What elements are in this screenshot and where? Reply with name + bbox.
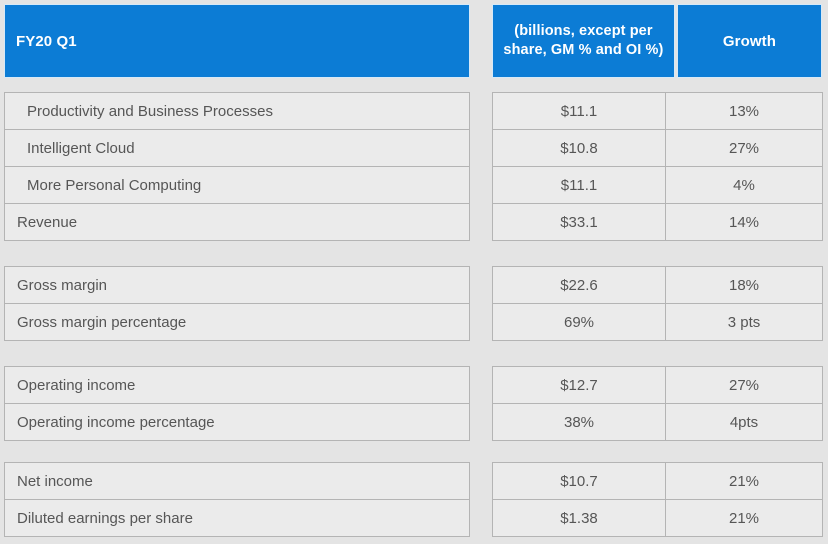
- table-row: 38% 4pts: [493, 404, 823, 441]
- group-net-income-values: $10.7 21% $1.38 21%: [492, 462, 822, 537]
- group-revenue-labels: Productivity and Business Processes Inte…: [4, 92, 470, 241]
- table-row: Productivity and Business Processes: [5, 93, 470, 130]
- row-label: Diluted earnings per share: [5, 500, 470, 537]
- row-label: Productivity and Business Processes: [5, 93, 470, 130]
- cell-amount: $1.38: [493, 500, 666, 537]
- cell-growth: 21%: [666, 500, 823, 537]
- row-label: More Personal Computing: [5, 167, 470, 204]
- table-row: Operating income: [5, 367, 470, 404]
- table-row: $10.8 27%: [493, 130, 823, 167]
- table-row: More Personal Computing: [5, 167, 470, 204]
- table-row: Gross margin percentage: [5, 304, 470, 341]
- cell-amount: $11.1: [493, 167, 666, 204]
- cell-growth: 4pts: [666, 404, 823, 441]
- row-label: Gross margin percentage: [5, 304, 470, 341]
- header-units-label: (billions, except per share, GM % and OI…: [492, 4, 675, 78]
- cell-amount: $12.7: [493, 367, 666, 404]
- cell-amount: $10.8: [493, 130, 666, 167]
- cell-growth: 4%: [666, 167, 823, 204]
- cell-amount: $22.6: [493, 267, 666, 304]
- table-row: Diluted earnings per share: [5, 500, 470, 537]
- table-row: $10.7 21%: [493, 463, 823, 500]
- table-row: Intelligent Cloud: [5, 130, 470, 167]
- cell-amount: $10.7: [493, 463, 666, 500]
- table-row: $12.7 27%: [493, 367, 823, 404]
- header-units-line-3: GM % and OI %): [551, 42, 664, 58]
- cell-growth: 14%: [666, 204, 823, 241]
- group-operating-income-labels: Operating income Operating income percen…: [4, 366, 470, 441]
- row-label: Intelligent Cloud: [5, 130, 470, 167]
- header-growth-label: Growth: [677, 4, 822, 78]
- table-row: Revenue: [5, 204, 470, 241]
- table-row: 69% 3 pts: [493, 304, 823, 341]
- cell-growth: 13%: [666, 93, 823, 130]
- row-label: Net income: [5, 463, 470, 500]
- table-row: Gross margin: [5, 267, 470, 304]
- group-revenue-values: $11.1 13% $10.8 27% $11.1 4% $33.1 14%: [492, 92, 822, 241]
- table-row: Operating income percentage: [5, 404, 470, 441]
- table-row: Net income: [5, 463, 470, 500]
- group-gross-margin-labels: Gross margin Gross margin percentage: [4, 266, 470, 341]
- row-label-total: Revenue: [5, 204, 470, 241]
- cell-amount: 69%: [493, 304, 666, 341]
- group-operating-income-values: $12.7 27% 38% 4pts: [492, 366, 822, 441]
- row-label: Gross margin: [5, 267, 470, 304]
- cell-growth: 27%: [666, 130, 823, 167]
- financial-summary-table: FY20 Q1 (billions, except per share, GM …: [0, 0, 828, 544]
- cell-amount: $33.1: [493, 204, 666, 241]
- group-gross-margin-values: $22.6 18% 69% 3 pts: [492, 266, 822, 341]
- row-label: Operating income: [5, 367, 470, 404]
- table-row: $22.6 18%: [493, 267, 823, 304]
- cell-growth: 21%: [666, 463, 823, 500]
- header-units-line-1: (billions, except: [514, 23, 625, 39]
- table-row: $33.1 14%: [493, 204, 823, 241]
- table-row: $1.38 21%: [493, 500, 823, 537]
- cell-amount: 38%: [493, 404, 666, 441]
- header-value-block: (billions, except per share, GM % and OI…: [492, 4, 822, 78]
- table-row: $11.1 4%: [493, 167, 823, 204]
- row-label: Operating income percentage: [5, 404, 470, 441]
- group-net-income-labels: Net income Diluted earnings per share: [4, 462, 470, 537]
- cell-growth: 3 pts: [666, 304, 823, 341]
- cell-amount: $11.1: [493, 93, 666, 130]
- table-row: $11.1 13%: [493, 93, 823, 130]
- cell-growth: 18%: [666, 267, 823, 304]
- cell-growth: 27%: [666, 367, 823, 404]
- header-period-label: FY20 Q1: [4, 4, 470, 78]
- header-period-block: FY20 Q1: [4, 4, 470, 78]
